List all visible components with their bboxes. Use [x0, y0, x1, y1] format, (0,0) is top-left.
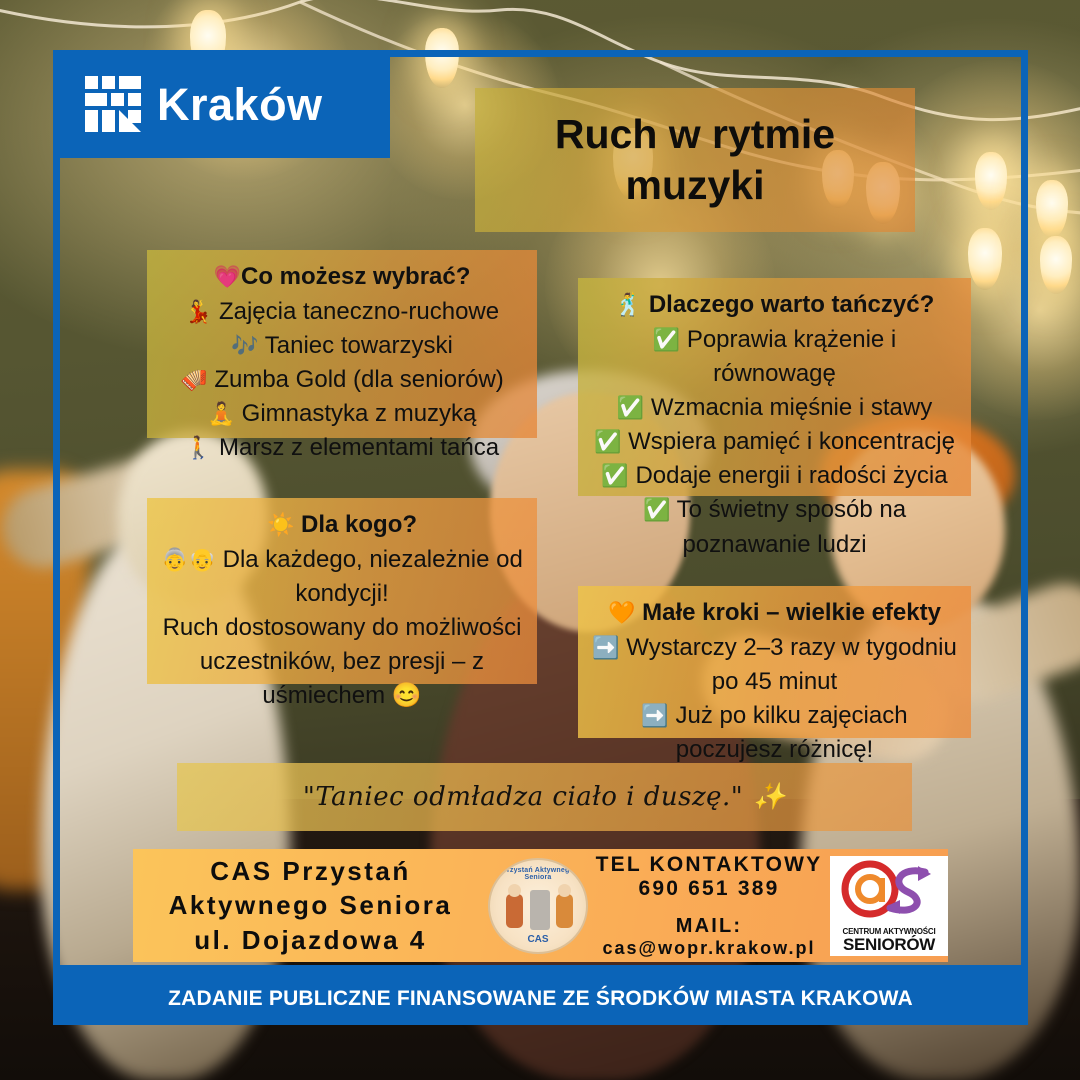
poster-title: Ruch w rytmie muzyki: [555, 109, 835, 212]
centrum-aktywnosci-seniorow-logo: CENTRUM AKTYWNOŚCI SENIORÓW: [830, 856, 948, 956]
funding-note-bar: ZADANIE PUBLICZNE FINANSOWANE ZE ŚRODKÓW…: [53, 972, 1028, 1025]
dancer-icon: 💃: [185, 299, 212, 324]
man-dancing-icon: 🕺: [615, 292, 642, 317]
walking-icon: 🚶: [185, 435, 212, 460]
quote-text: "Taniec odmładza ciało i duszę.": [303, 782, 743, 812]
poster: Kraków Ruch w rytmie muzyki 💗Co możesz w…: [0, 0, 1080, 1080]
mail-label: MAIL:: [588, 915, 830, 938]
list-item: 🚶 Marsz z elementami tańca: [161, 431, 523, 465]
funding-note: ZADANIE PUBLICZNE FINANSOWANE ZE ŚRODKÓW…: [168, 987, 913, 1011]
list-item: 🧘 Gimnastyka z muzyką: [161, 397, 523, 431]
phone-label: TEL KONTAKTOWY: [588, 853, 830, 877]
at-s-mark-icon: [830, 858, 948, 920]
right-arrow-icon: ➡️: [592, 635, 619, 660]
check-mark-icon: ✅: [594, 429, 621, 454]
music-notes-icon: 🎶: [231, 333, 258, 358]
list-item: ✅ Wzmacnia mięśnie i stawy: [592, 391, 957, 425]
list-item: ➡️ Wystarczy 2–3 razy w tygodniu po 45 m…: [592, 631, 957, 699]
box2-heading: 🕺 Dlaczego warto tańczyć?: [592, 288, 957, 322]
list-item: ➡️ Już po kilku zajęciach poczujesz różn…: [592, 699, 957, 767]
box4-heading: 🧡 Małe kroki – wielkie efekty: [592, 596, 957, 630]
list-item: Ruch dostosowany do możliwości uczestnik…: [161, 611, 523, 713]
cas-logo-arc-text: Przystań Aktywnego Seniora: [490, 867, 586, 881]
check-mark-icon: ✅: [617, 395, 644, 420]
krakow-logo-bar: Kraków: [53, 50, 390, 158]
senior-logo-line-2: SENIORÓW: [843, 936, 935, 953]
contact-footer: CAS Przystań Aktywnego Seniora ul. Dojaz…: [133, 849, 948, 962]
older-couple-icon: 👵👴: [161, 547, 216, 572]
orange-heart-icon: 🧡: [608, 600, 635, 625]
krakow-wordmark: Kraków: [157, 82, 323, 127]
list-item: ✅ Wspiera pamięć i koncentrację: [592, 425, 957, 459]
info-box-dlaczego-warto-tanczyc: 🕺 Dlaczego warto tańczyć? ✅ Poprawia krą…: [578, 278, 971, 496]
heart-icon: 💗: [214, 264, 241, 289]
phone-number[interactable]: 690 651 389: [588, 877, 830, 901]
check-mark-icon: ✅: [653, 327, 680, 352]
list-item: 🎶 Taniec towarzyski: [161, 329, 523, 363]
mail-address[interactable]: cas@wopr.krakow.pl: [588, 938, 830, 959]
cas-logo-tag: CAS: [490, 934, 586, 945]
check-mark-icon: ✅: [643, 497, 670, 522]
info-box-male-kroki: 🧡 Małe kroki – wielkie efekty ➡️ Wystarc…: [578, 586, 971, 738]
check-mark-icon: ✅: [601, 463, 628, 488]
right-arrow-icon: ➡️: [641, 703, 668, 728]
sparkles-icon: ✨: [753, 782, 786, 812]
accordion-icon: 🪗: [180, 367, 207, 392]
info-box-dla-kogo: ☀️ Dla kogo? 👵👴 Dla każdego, niezależnie…: [147, 498, 537, 684]
list-item: 👵👴 Dla każdego, niezależnie od kondycji!: [161, 543, 523, 611]
list-item: ✅ To świetny sposób na poznawanie ludzi: [592, 493, 957, 561]
address-line-3: ul. Dojazdowa 4: [133, 923, 488, 957]
organisation-address: CAS Przystań Aktywnego Seniora ul. Dojaz…: [133, 854, 488, 957]
yoga-icon: 🧘: [208, 401, 235, 426]
contact-details: TEL KONTAKTOWY 690 651 389 MAIL: cas@wop…: [588, 853, 830, 959]
address-line-1: CAS Przystań: [133, 854, 488, 888]
title-line-1: Ruch w rytmie: [555, 111, 835, 157]
title-line-2: muzyki: [625, 162, 764, 208]
list-item: 🪗 Zumba Gold (dla seniorów): [161, 363, 523, 397]
box1-heading: 💗Co możesz wybrać?: [161, 260, 523, 294]
sun-icon: ☀️: [267, 512, 294, 537]
list-item: ✅ Dodaje energii i radości życia: [592, 459, 957, 493]
box3-heading: ☀️ Dla kogo?: [161, 508, 523, 542]
cas-circular-logo: Przystań Aktywnego Seniora CAS: [488, 858, 588, 954]
cas-logo-figures: [506, 884, 574, 936]
quote-band: "Taniec odmładza ciało i duszę." ✨: [177, 763, 912, 831]
list-item: ✅ Poprawia krążenie i równowagę: [592, 323, 957, 391]
poster-title-band: Ruch w rytmie muzyki: [475, 88, 915, 232]
list-item: 💃 Zajęcia taneczno-ruchowe: [161, 295, 523, 329]
krakow-grid-logo-icon: [85, 76, 141, 132]
address-line-2: Aktywnego Seniora: [133, 888, 488, 922]
info-box-co-mozesz-wybrac: 💗Co możesz wybrać? 💃 Zajęcia taneczno-ru…: [147, 250, 537, 438]
